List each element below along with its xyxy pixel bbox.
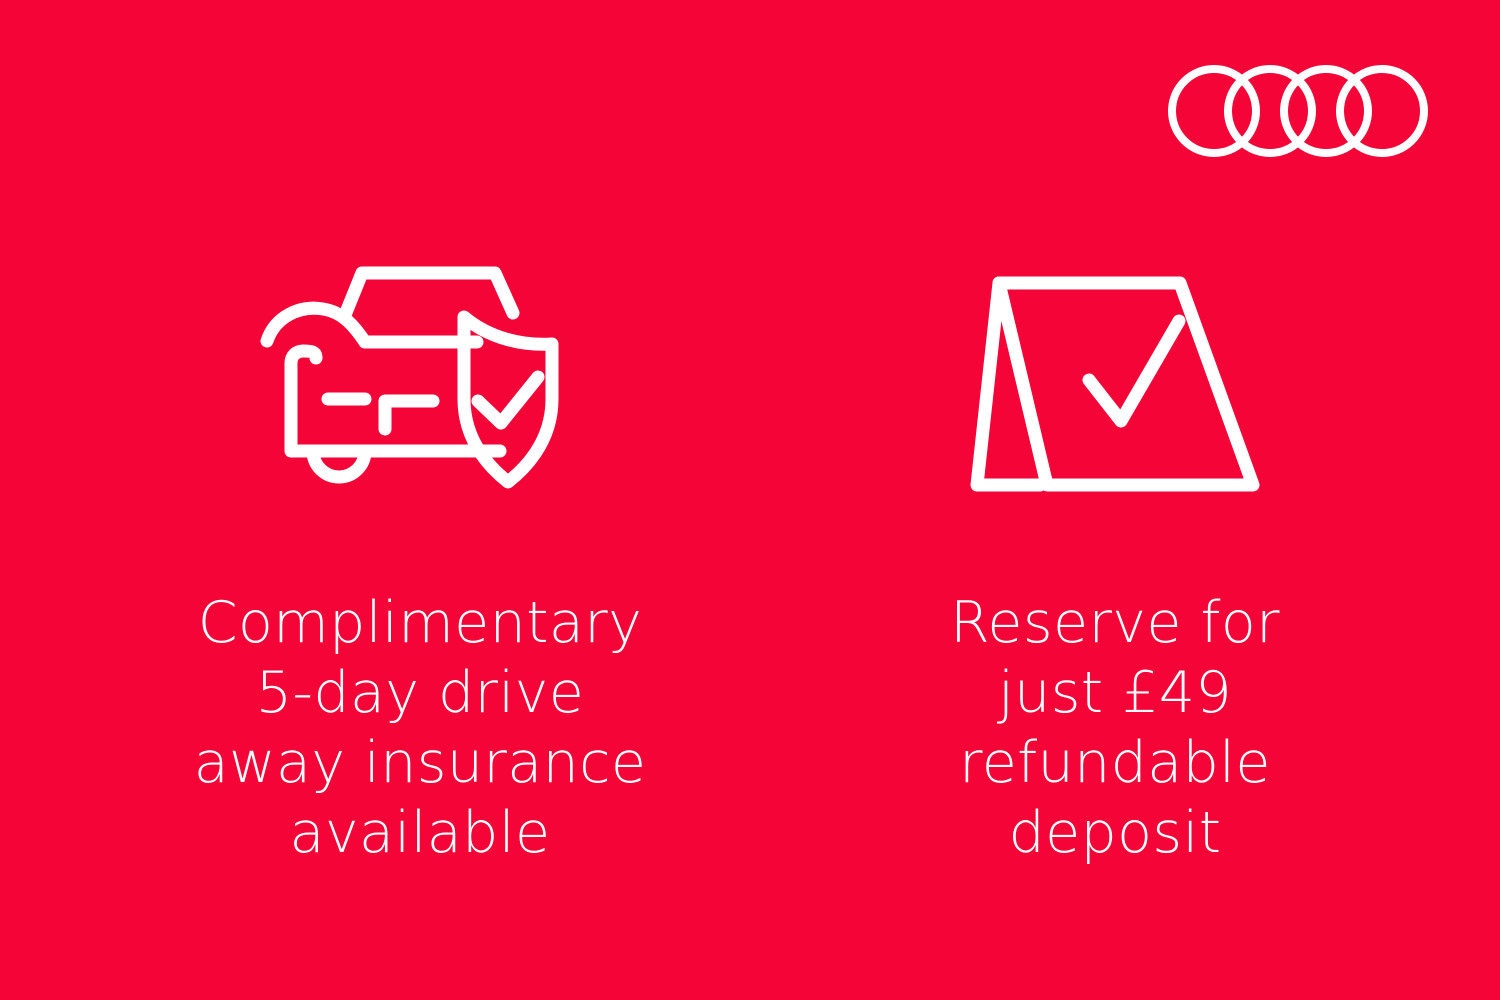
audi-four-rings-logo xyxy=(1168,61,1430,161)
feature-insurance-caption: Complimentary 5-day drive away insurance… xyxy=(120,588,720,868)
audi-ring-4 xyxy=(1340,69,1424,153)
promo-panel: Complimentary 5-day drive away insurance… xyxy=(0,0,1500,1000)
shield-checkmark xyxy=(478,377,538,423)
feature-deposit-caption: Reserve for just £49 refundable deposit xyxy=(880,588,1350,868)
tent-card-checkmark xyxy=(1089,321,1179,421)
tent-card-check-icon xyxy=(965,250,1265,510)
car-shield-svg xyxy=(255,255,585,505)
car-shield-icon xyxy=(255,250,585,510)
audi-rings-svg xyxy=(1168,61,1430,161)
car-roof-line xyxy=(345,273,513,315)
car-door-mark xyxy=(385,401,433,429)
feature-insurance: Complimentary 5-day drive away insurance… xyxy=(110,250,730,868)
feature-deposit: Reserve for just £49 refundable deposit xyxy=(805,250,1425,868)
tent-card-check-svg xyxy=(965,255,1265,505)
tent-card-front-panel xyxy=(999,283,1253,485)
